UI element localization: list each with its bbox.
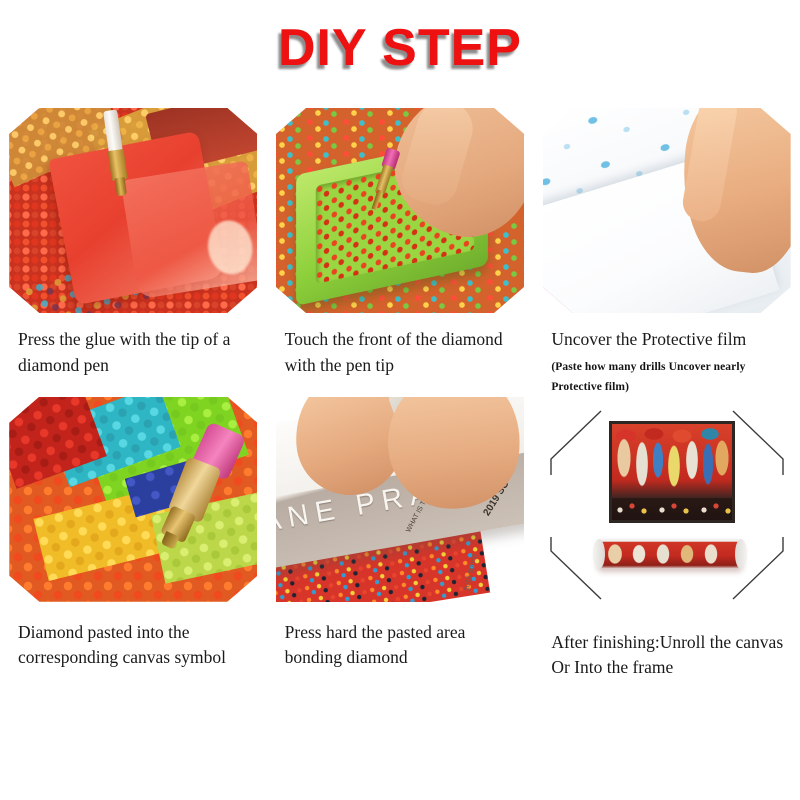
step-3-caption-main: Uncover the Protective film <box>551 329 746 349</box>
framed-artwork <box>609 421 735 523</box>
step-3-image <box>543 108 791 313</box>
artwork-image <box>612 424 732 520</box>
step-3-caption: Uncover the Protective film (Paste how m… <box>539 313 794 397</box>
step-3-caption-note: (Paste how many drills Uncover nearly Pr… <box>551 357 792 397</box>
step-2-caption: Touch the front of the diamond with the … <box>273 313 528 378</box>
step-6-caption: After finishing:Unroll the canvas Or Int… <box>539 612 794 681</box>
step-card-1: Press the glue with the tip of a diamond… <box>0 108 267 397</box>
steps-row-top: Press the glue with the tip of a diamond… <box>0 108 800 397</box>
roll-cap-right <box>735 539 747 569</box>
step-1-image <box>9 108 257 313</box>
step-card-2: Touch the front of the diamond with the … <box>267 108 534 397</box>
page-title: DIY STEP <box>278 22 522 74</box>
step-6-image <box>543 397 791 612</box>
step-2-image <box>276 108 524 313</box>
step-5-caption: Press hard the pasted area bonding diamo… <box>273 602 528 671</box>
step-card-6: After finishing:Unroll the canvas Or Int… <box>533 397 800 681</box>
page-header: DIY STEP <box>0 22 800 74</box>
steps-grid: Press the glue with the tip of a diamond… <box>0 108 800 681</box>
steps-row-bottom: Diamond pasted into the corresponding ca… <box>0 397 800 681</box>
step-4-image <box>9 397 257 602</box>
step-5-image: ANE PRACE WHAT IS THE PROBLEM 2019 SC 20… <box>276 397 524 602</box>
step-card-5: ANE PRACE WHAT IS THE PROBLEM 2019 SC 20… <box>267 397 534 681</box>
rolled-canvas <box>597 539 743 569</box>
step-card-4: Diamond pasted into the corresponding ca… <box>0 397 267 681</box>
step-4-caption: Diamond pasted into the corresponding ca… <box>6 602 261 671</box>
roll-cap-left <box>593 539 605 569</box>
step-card-3: Uncover the Protective film (Paste how m… <box>533 108 800 397</box>
step-1-caption: Press the glue with the tip of a diamond… <box>6 313 261 378</box>
translucent-bag <box>121 161 258 300</box>
